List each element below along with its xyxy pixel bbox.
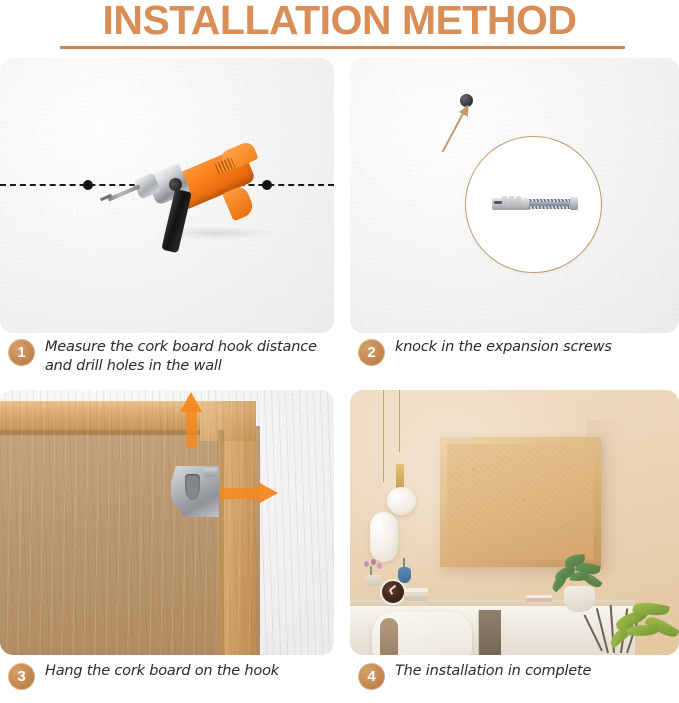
step-2-illustration-cell — [350, 58, 679, 333]
stacked-books — [404, 588, 428, 601]
arrow-up-stem — [186, 409, 197, 448]
table-clock — [380, 579, 406, 605]
expansion-screw-assembly — [492, 195, 578, 212]
step-2-caption-text: knock in the expansion screws — [395, 338, 612, 357]
step-1-number-badge: 1 — [8, 339, 35, 366]
bracket-mount-tab — [204, 468, 217, 477]
arrow-right-head — [258, 482, 278, 504]
header: INSTALLATION METHOD — [0, 0, 679, 56]
step-3-caption-text: Hang the cork board on the hook — [45, 662, 279, 681]
power-drill-icon — [96, 116, 266, 246]
plug-slot — [494, 201, 502, 204]
pendant-cord-right — [399, 390, 400, 452]
pendant-lamp-round — [387, 487, 416, 515]
step-4-caption: 4 The installation in complete — [358, 662, 679, 690]
step-3-illustration-cell — [0, 390, 334, 655]
bracket-keyhole-slot — [185, 474, 200, 500]
step-1-caption-line2: and drill holes in the wall — [45, 357, 317, 376]
sideboard-seam — [478, 610, 480, 655]
arrow-right-stem — [220, 488, 260, 499]
flower-bud — [364, 561, 369, 567]
plug-fin — [515, 196, 521, 209]
page-title: INSTALLATION METHOD — [0, 0, 679, 42]
step-4-caption-line1: The installation in complete — [395, 663, 591, 679]
flower-bud — [371, 559, 376, 565]
flower-bud — [377, 563, 382, 569]
step-1-caption-text: Measure the cork board hook distance and… — [45, 338, 317, 376]
wood-frame-corner-joint — [200, 401, 256, 441]
drill-hole-mark-left — [83, 180, 93, 190]
arrow-right-icon — [220, 482, 278, 504]
wood-frame-right-inner-edge — [218, 430, 224, 655]
corner-foliage-plant — [593, 595, 679, 655]
step-4-illustration-cell — [350, 390, 679, 655]
flower-pot — [365, 575, 381, 586]
step-3-number-badge: 3 — [8, 663, 35, 690]
steps-grid: 1 Measure the cork board hook distance a… — [0, 58, 679, 703]
step-4-number-badge: 4 — [358, 663, 385, 690]
step-3-caption-line1: Hang the cork board on the hook — [45, 663, 279, 679]
step-1-illustration-cell — [0, 58, 334, 333]
step-2-caption-line1: knock in the expansion screws — [395, 339, 612, 355]
pendant-cord-left — [383, 390, 384, 482]
step-1-caption: 1 Measure the cork board hook distance a… — [8, 338, 334, 376]
pendant-brass-cap-round — [396, 464, 404, 488]
step-4-panel-room — [350, 390, 679, 655]
mounted-cork-board — [440, 437, 601, 567]
foliage-leaf — [627, 624, 659, 636]
step-2-number-badge: 2 — [358, 339, 385, 366]
step-4-caption-text: The installation in complete — [395, 662, 591, 681]
title-underline-rule — [60, 46, 625, 49]
chair-leg — [380, 618, 398, 655]
pendant-lamp-oval — [370, 512, 398, 562]
cork-surface-texture — [447, 444, 594, 560]
step-1-panel-wall — [0, 58, 334, 333]
flower-vase-decor — [362, 560, 384, 584]
plug-fin — [508, 196, 514, 209]
step-2-caption: 2 knock in the expansion screws — [358, 338, 679, 366]
screw-head — [570, 197, 578, 210]
step-3-panel-wall — [0, 390, 334, 655]
sideboard-open-shelf — [479, 610, 501, 655]
arrow-up-icon — [180, 392, 202, 448]
plant-pot — [564, 586, 595, 612]
drill-bit — [108, 185, 141, 202]
blue-vase — [398, 567, 411, 583]
step-1-caption-line1: Measure the cork board hook distance — [45, 339, 317, 355]
step-3-caption: 3 Hang the cork board on the hook — [8, 662, 334, 690]
step-2-panel-wall — [350, 58, 679, 333]
screw-shank — [529, 202, 572, 206]
